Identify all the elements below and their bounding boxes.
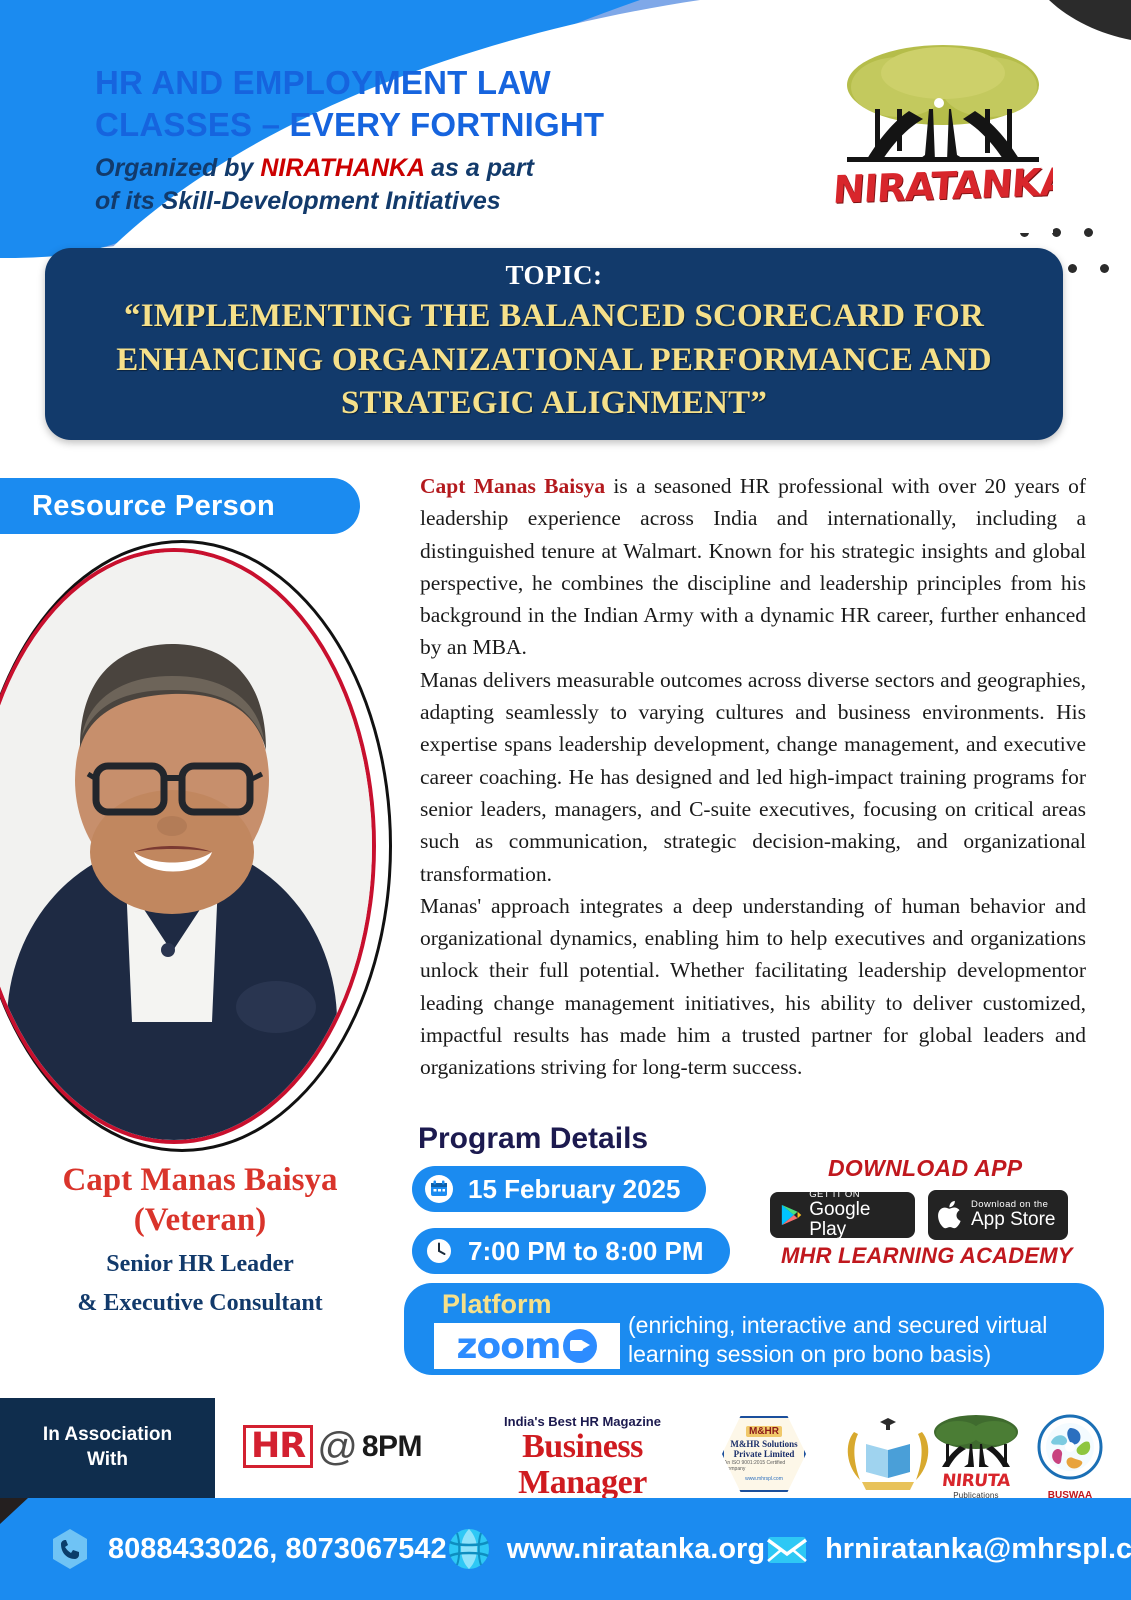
banyan-tree-icon [839,35,1047,175]
zoom-logo: zoom [434,1323,620,1369]
contact-website[interactable]: www.niratanka.org [447,1527,765,1571]
app-store-big-text: App Store [971,1210,1056,1230]
download-app-title: DOWNLOAD APP [828,1155,1022,1182]
partner-logo-business-manager: India's Best HR Magazine Business Manage… [465,1414,700,1510]
partner-logo-mhr-solutions: M&HR M&HR Solutions Private Limited An I… [722,1416,806,1492]
resource-person-label: Resource Person [32,490,275,523]
header-title-block: HR AND EMPLOYMENT LAW CLASSES – EVERY FO… [95,62,735,217]
topic-banner: TOPIC: “IMPLEMENTING THE BALANCED SCOREC… [45,248,1063,440]
header-brand-name: NIRATHANKA [260,154,424,182]
mhr-line-1: M&HR Solutions [730,1439,797,1449]
platform-note: (enriching, interactive and secured virt… [628,1311,1088,1370]
partner-logo-hr8pm: HR @ 8PM [243,1425,422,1468]
speaker-role-line-2: & Executive Consultant [0,1288,400,1319]
video-camera-icon [563,1329,597,1363]
platform-label: Platform [442,1289,552,1320]
program-date-value: 15 February 2025 [468,1174,680,1205]
speaker-bio: Capt Manas Baisya is a seasoned HR profe… [420,470,1086,1084]
google-play-badge[interactable]: GET IT ON Google Play [770,1192,915,1238]
flyer-page: HR AND EMPLOYMENT LAW CLASSES – EVERY FO… [0,0,1131,1600]
topic-title: “IMPLEMENTING THE BALANCED SCORECARD FOR… [63,295,1045,426]
contact-email[interactable]: hrniratanka@mhrspl.com [765,1527,1131,1571]
contact-website-value: www.niratanka.org [507,1533,765,1566]
apple-icon [938,1200,964,1230]
niratanka-logo-card: NIRATANKA [833,31,1053,233]
program-date-pill: 15 February 2025 [412,1166,706,1212]
header-line-1: HR AND EMPLOYMENT LAW [95,62,735,104]
contact-email-value: hrniratanka@mhrspl.com [825,1533,1131,1566]
partner-logo-buswaa: BUSWAA [1026,1414,1114,1501]
at-symbol-icon: @ [317,1427,358,1467]
header-sub-line-2: of its Skill-Development Initiatives [95,185,735,218]
header-sub-pre: Organized by [95,154,260,182]
contact-phone-value: 8088433026, 8073067542 [108,1533,447,1566]
contact-phone[interactable]: 8088433026, 8073067542 [48,1527,447,1571]
zoom-wordmark: zoom [457,1326,561,1367]
association-label-line-2: With [87,1448,128,1473]
bio-para-1-text: is a seasoned HR professional with over … [420,474,1086,659]
speaker-name-block: Capt Manas Baisya (Veteran) Senior HR Le… [0,1160,400,1319]
niratanka-wordmark: NIRATANKA [833,160,1053,212]
bio-paragraph-3: Manas' approach integrates a deep unders… [420,890,1086,1084]
google-play-icon [780,1202,802,1228]
mhr-line-2: Private Limited [734,1449,795,1459]
program-time-value: 7:00 PM to 8:00 PM [468,1236,704,1267]
contact-bar: 8088433026, 8073067542 www.niratanka.org [0,1498,1131,1600]
email-icon [765,1527,809,1571]
association-label: In Association With [0,1398,215,1498]
business-manager-title: Business Manager [465,1429,700,1500]
association-label-line-1: In Association [43,1423,172,1448]
speaker-suffix: (Veteran) [0,1200,400,1240]
bio-paragraph-1: Capt Manas Baisya is a seasoned HR profe… [420,470,1086,664]
clock-icon [424,1236,454,1266]
business-manager-tagline: India's Best HR Magazine [465,1414,700,1429]
phone-icon [48,1527,92,1571]
bio-paragraph-2: Manas delivers measurable outcomes acros… [420,664,1086,890]
speaker-role-line-1: Senior HR Leader [0,1249,400,1280]
association-bar: In Association With HR @ 8PM India's Bes… [0,1398,1131,1498]
globe-icon [447,1527,491,1571]
buswaa-emblem-icon [1032,1414,1108,1484]
bio-lead-name: Capt Manas Baisya [420,474,605,498]
mhr-learning-academy-label: MHR LEARNING ACADEMY [781,1243,1073,1269]
speaker-name: Capt Manas Baisya [0,1160,400,1200]
header-subtitle: Organized by NIRATHANKA as a part of its… [95,152,735,217]
resource-person-pill: Resource Person [0,478,360,534]
speaker-portrait [0,540,392,1152]
calendar-icon [424,1174,454,1204]
platform-band: Platform zoom (enriching, interactive an… [404,1283,1104,1375]
partner-logo-niruta: NIRUTA Publications [930,1412,1022,1496]
topic-label: TOPIC: [63,260,1045,291]
mhr-line-4: www.mhrspl.com [745,1476,783,1482]
niruta-tree-icon [930,1412,1022,1468]
hr8pm-hr-text: HR [251,1429,305,1464]
niruta-wordmark: NIRUTA [929,1471,1023,1491]
google-play-big-text: Google Play [809,1200,905,1240]
app-store-badge[interactable]: Download on the App Store [928,1190,1068,1240]
partner-logo-skill-academy: HR Learning and Skill Building Academy [840,1414,936,1494]
header-line-2: CLASSES – EVERY FORTNIGHT [95,104,735,146]
mhr-badge-text: M&HR [746,1426,782,1437]
program-details-title: Program Details [418,1122,648,1156]
header-sub-post: as a part [424,154,534,182]
mhr-line-3: An ISO 9001:2015 Certified Company [724,1460,804,1472]
program-time-pill: 7:00 PM to 8:00 PM [412,1228,730,1274]
hr8pm-pm-text: 8PM [362,1430,422,1464]
